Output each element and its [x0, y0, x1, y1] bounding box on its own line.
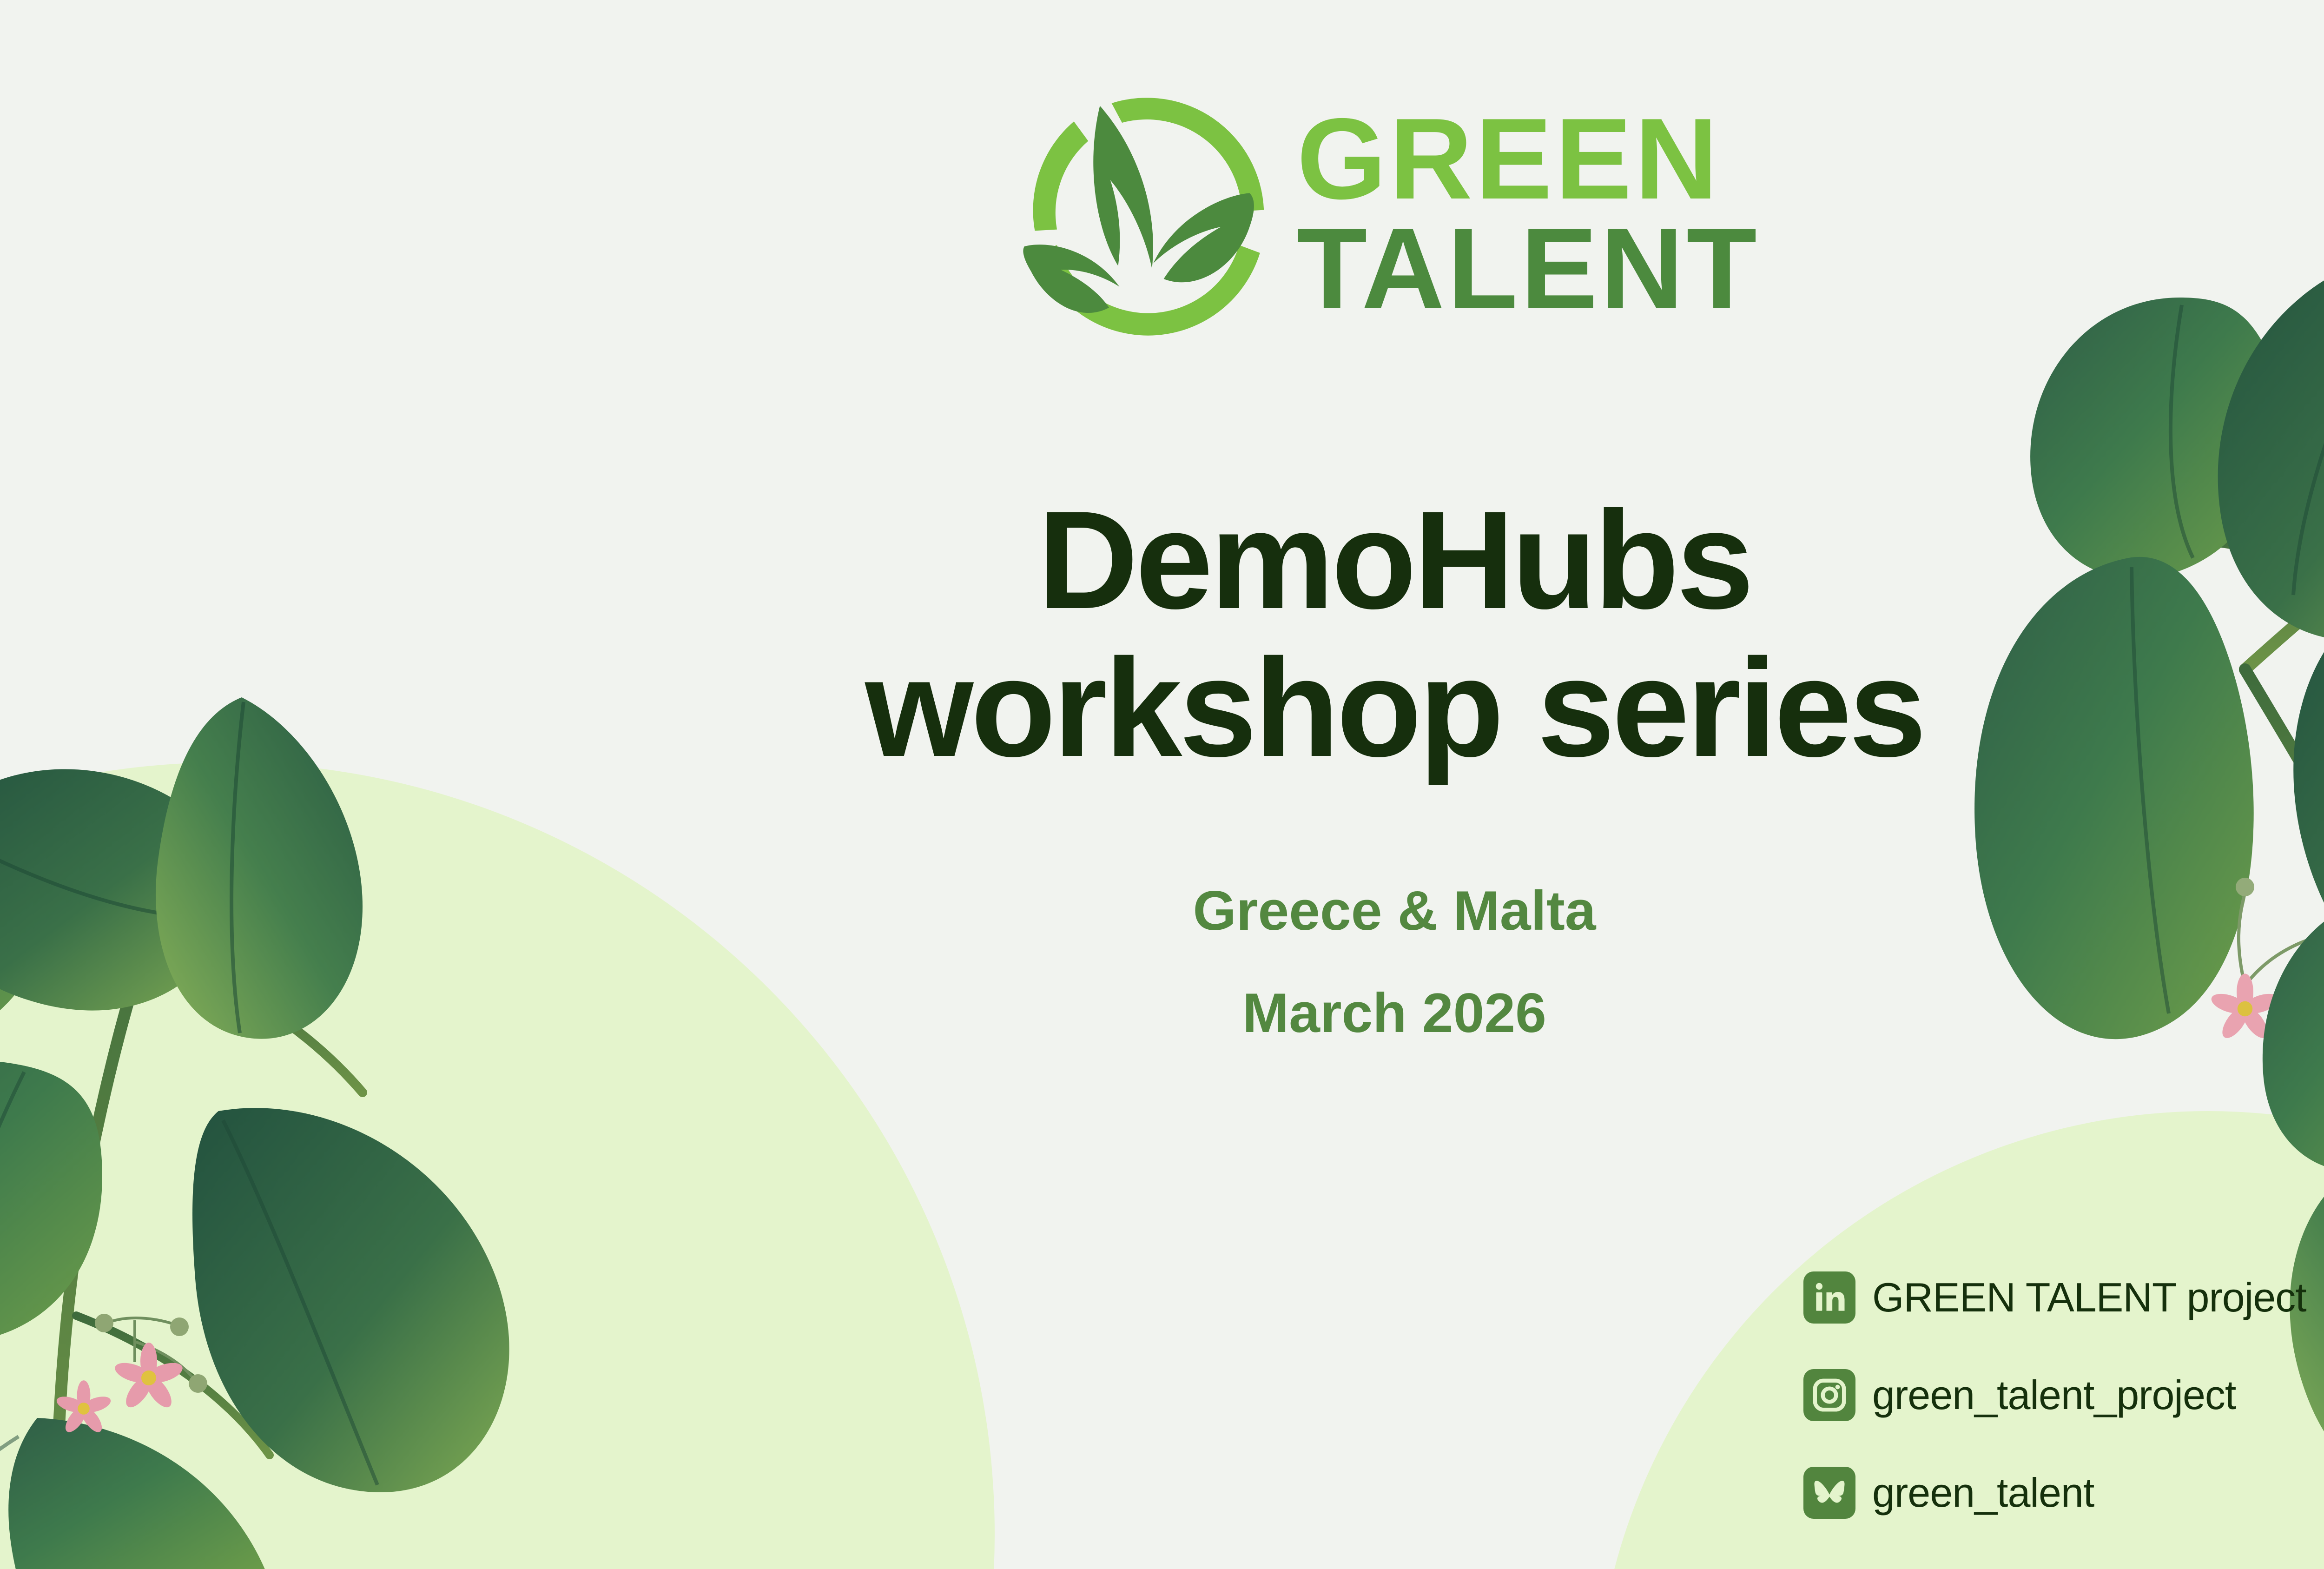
bluesky-butterfly-icon[interactable] — [1803, 1467, 1855, 1519]
page-title: DemoHubs workshop series — [0, 486, 2324, 781]
social-link-instagram[interactable]: green_talent_project — [1803, 1369, 2306, 1421]
social-link-bluesky[interactable]: green_talent — [1803, 1467, 2306, 1519]
logo-word-green: GREEN — [1297, 104, 1760, 214]
logo-wordmark: GREEN TALENT — [1297, 104, 1760, 323]
logo-word-talent: TALENT — [1297, 214, 1760, 324]
title-line-1: DemoHubs — [0, 486, 2324, 634]
leaf-circle-logo-icon — [1018, 84, 1278, 344]
linkedin-icon[interactable] — [1803, 1271, 1855, 1324]
instagram-icon[interactable] — [1803, 1369, 1855, 1421]
social-label-linkedin: GREEN TALENT project — [1872, 1274, 2306, 1321]
social-link-linkedin[interactable]: GREEN TALENT project — [1803, 1271, 2306, 1324]
title-line-2: workshop series — [0, 634, 2324, 781]
social-label-bluesky: green_talent — [1872, 1469, 2094, 1516]
brand-logo: GREEN TALENT — [1018, 70, 1855, 358]
social-links-list: GREEN TALENT project green_talent_projec… — [1803, 1271, 2306, 1519]
subtitle-location: Greece & Malta — [0, 879, 2324, 943]
slide-canvas: GREEN TALENT DemoHubs workshop series Gr… — [0, 0, 2324, 1569]
social-label-instagram: green_talent_project — [1872, 1371, 2236, 1419]
subtitle-date: March 2026 — [0, 981, 2324, 1045]
